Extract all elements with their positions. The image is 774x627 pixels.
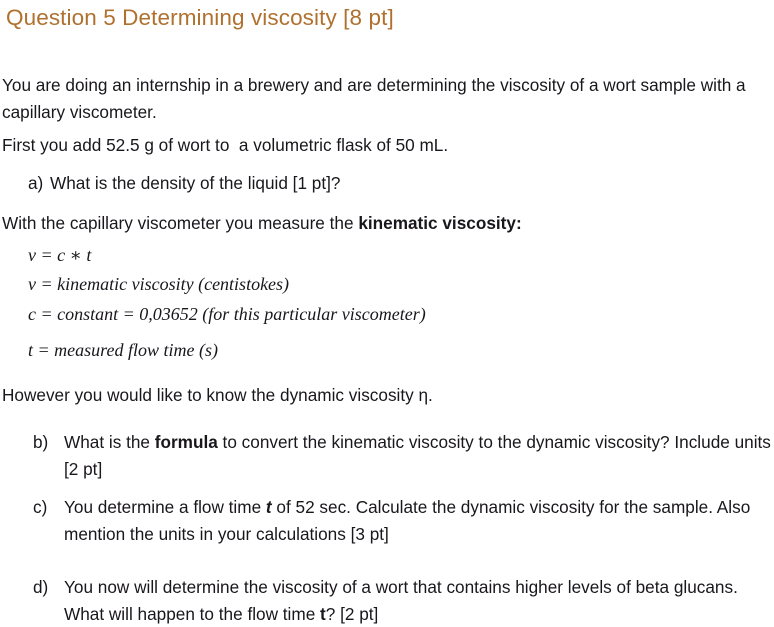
intro-paragraph-2: First you add 52.5 g of wort to a volume… <box>2 132 770 159</box>
list-item-b-bold: formula <box>155 432 218 452</box>
intro-paragraph-1: You are doing an internship in a brewery… <box>2 72 770 125</box>
list-marker-a: a) <box>28 170 50 197</box>
list-item-d: d) You now will determine the viscosity … <box>33 574 774 627</box>
page-title: Question 5 Determining viscosity [8 pt] <box>6 4 394 32</box>
formula-line-2: ν = kinematic viscosity (centistokes) <box>28 272 289 297</box>
list-marker-b: b) <box>33 429 64 482</box>
formula-line-1: ν = c ∗ t <box>28 243 91 268</box>
kinematic-lead-in-text: With the capillary viscometer you measur… <box>2 213 358 233</box>
list-item-c: c) You determine a flow time t of 52 sec… <box>33 494 774 547</box>
formula-line-3: c = constant = 0,03652 (for this particu… <box>28 302 426 327</box>
list-item-d-text-after: ? [2 pt] <box>326 604 379 624</box>
list-item-d-text-before: You now will determine the viscosity of … <box>64 577 743 624</box>
list-item-c-text: You determine a flow time t of 52 sec. C… <box>64 494 774 547</box>
list-item-c-text-before: You determine a flow time <box>64 497 266 517</box>
list-item-b-text-before: What is the <box>64 432 155 452</box>
document-page: Question 5 Determining viscosity [8 pt] … <box>0 0 774 623</box>
list-marker-d: d) <box>33 574 64 627</box>
list-marker-c: c) <box>33 494 64 547</box>
list-item-d-text: You now will determine the viscosity of … <box>64 574 774 627</box>
list-item-a: a) What is the density of the liquid [1 … <box>28 170 628 197</box>
formula-line-4: t = measured flow time (s) <box>28 338 218 363</box>
dynamic-viscosity-paragraph: However you would like to know the dynam… <box>2 382 770 409</box>
kinematic-viscosity-lead-in: With the capillary viscometer you measur… <box>2 210 770 237</box>
list-item-a-text: What is the density of the liquid [1 pt]… <box>50 170 628 197</box>
list-item-b: b) What is the formula to convert the ki… <box>33 429 774 482</box>
list-item-b-text: What is the formula to convert the kinem… <box>64 429 774 482</box>
kinematic-lead-in-bold: kinematic viscosity: <box>358 213 521 233</box>
